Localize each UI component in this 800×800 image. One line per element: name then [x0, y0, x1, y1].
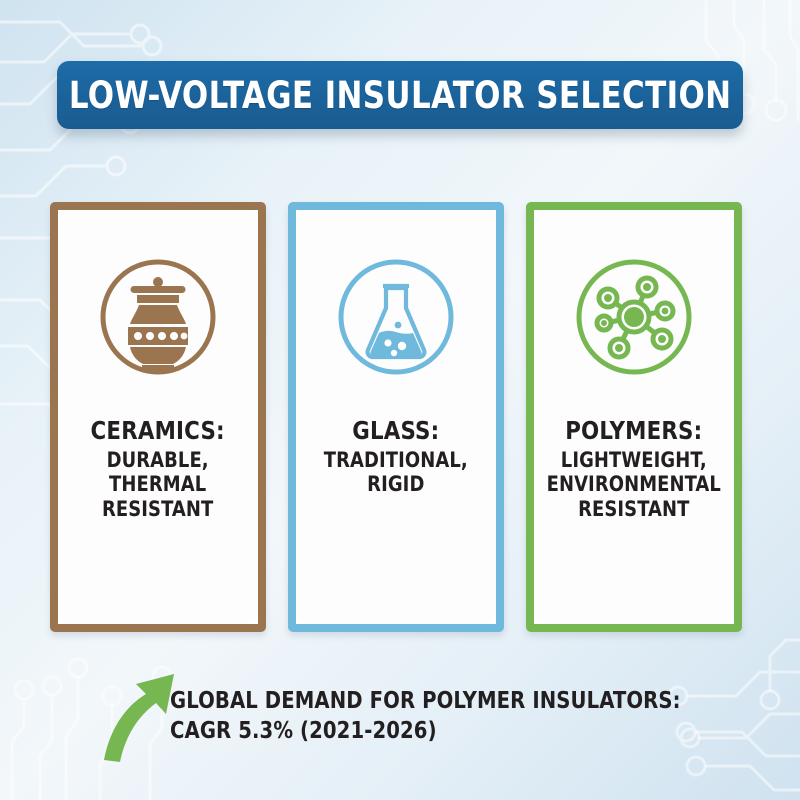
card-glass-text: GLASS: TRADITIONAL, RIGID	[324, 416, 468, 497]
card-ceramics-heading: CERAMICS:	[91, 416, 225, 445]
title-banner: LOW-VOLTAGE INSULATOR SELECTION	[57, 61, 743, 129]
page-title: LOW-VOLTAGE INSULATOR SELECTION	[69, 74, 732, 117]
footer: GLOBAL DEMAND FOR POLYMER INSULATORS: CA…	[0, 668, 800, 768]
card-ceramics[interactable]: CERAMICS: DURABLE, THERMAL RESISTANT	[50, 202, 266, 632]
infographic-canvas: LOW-VOLTAGE INSULATOR SELECTION	[0, 0, 800, 800]
molecule-icon	[572, 255, 696, 379]
card-polymers-text: POLYMERS: LIGHTWEIGHT, ENVIRONMENTAL RES…	[547, 416, 721, 521]
pot-icon	[96, 255, 220, 379]
footer-caption: GLOBAL DEMAND FOR POLYMER INSULATORS: CA…	[170, 686, 681, 747]
card-polymers-description: LIGHTWEIGHT, ENVIRONMENTAL RESISTANT	[547, 448, 721, 521]
card-glass-heading: GLASS:	[324, 416, 468, 445]
card-polymers-heading: POLYMERS:	[547, 416, 721, 445]
card-glass-description: TRADITIONAL, RIGID	[324, 448, 468, 497]
card-polymers-inner: POLYMERS: LIGHTWEIGHT, ENVIRONMENTAL RES…	[534, 210, 734, 624]
card-ceramics-text: CERAMICS: DURABLE, THERMAL RESISTANT	[91, 416, 225, 521]
card-ceramics-description: DURABLE, THERMAL RESISTANT	[91, 448, 225, 521]
card-ceramics-inner: CERAMICS: DURABLE, THERMAL RESISTANT	[58, 210, 258, 624]
card-polymers[interactable]: POLYMERS: LIGHTWEIGHT, ENVIRONMENTAL RES…	[526, 202, 742, 632]
flask-icon	[334, 255, 458, 379]
card-glass[interactable]: GLASS: TRADITIONAL, RIGID	[288, 202, 504, 632]
card-glass-inner: GLASS: TRADITIONAL, RIGID	[296, 210, 496, 624]
cards-row: CERAMICS: DURABLE, THERMAL RESISTANT	[50, 202, 750, 634]
